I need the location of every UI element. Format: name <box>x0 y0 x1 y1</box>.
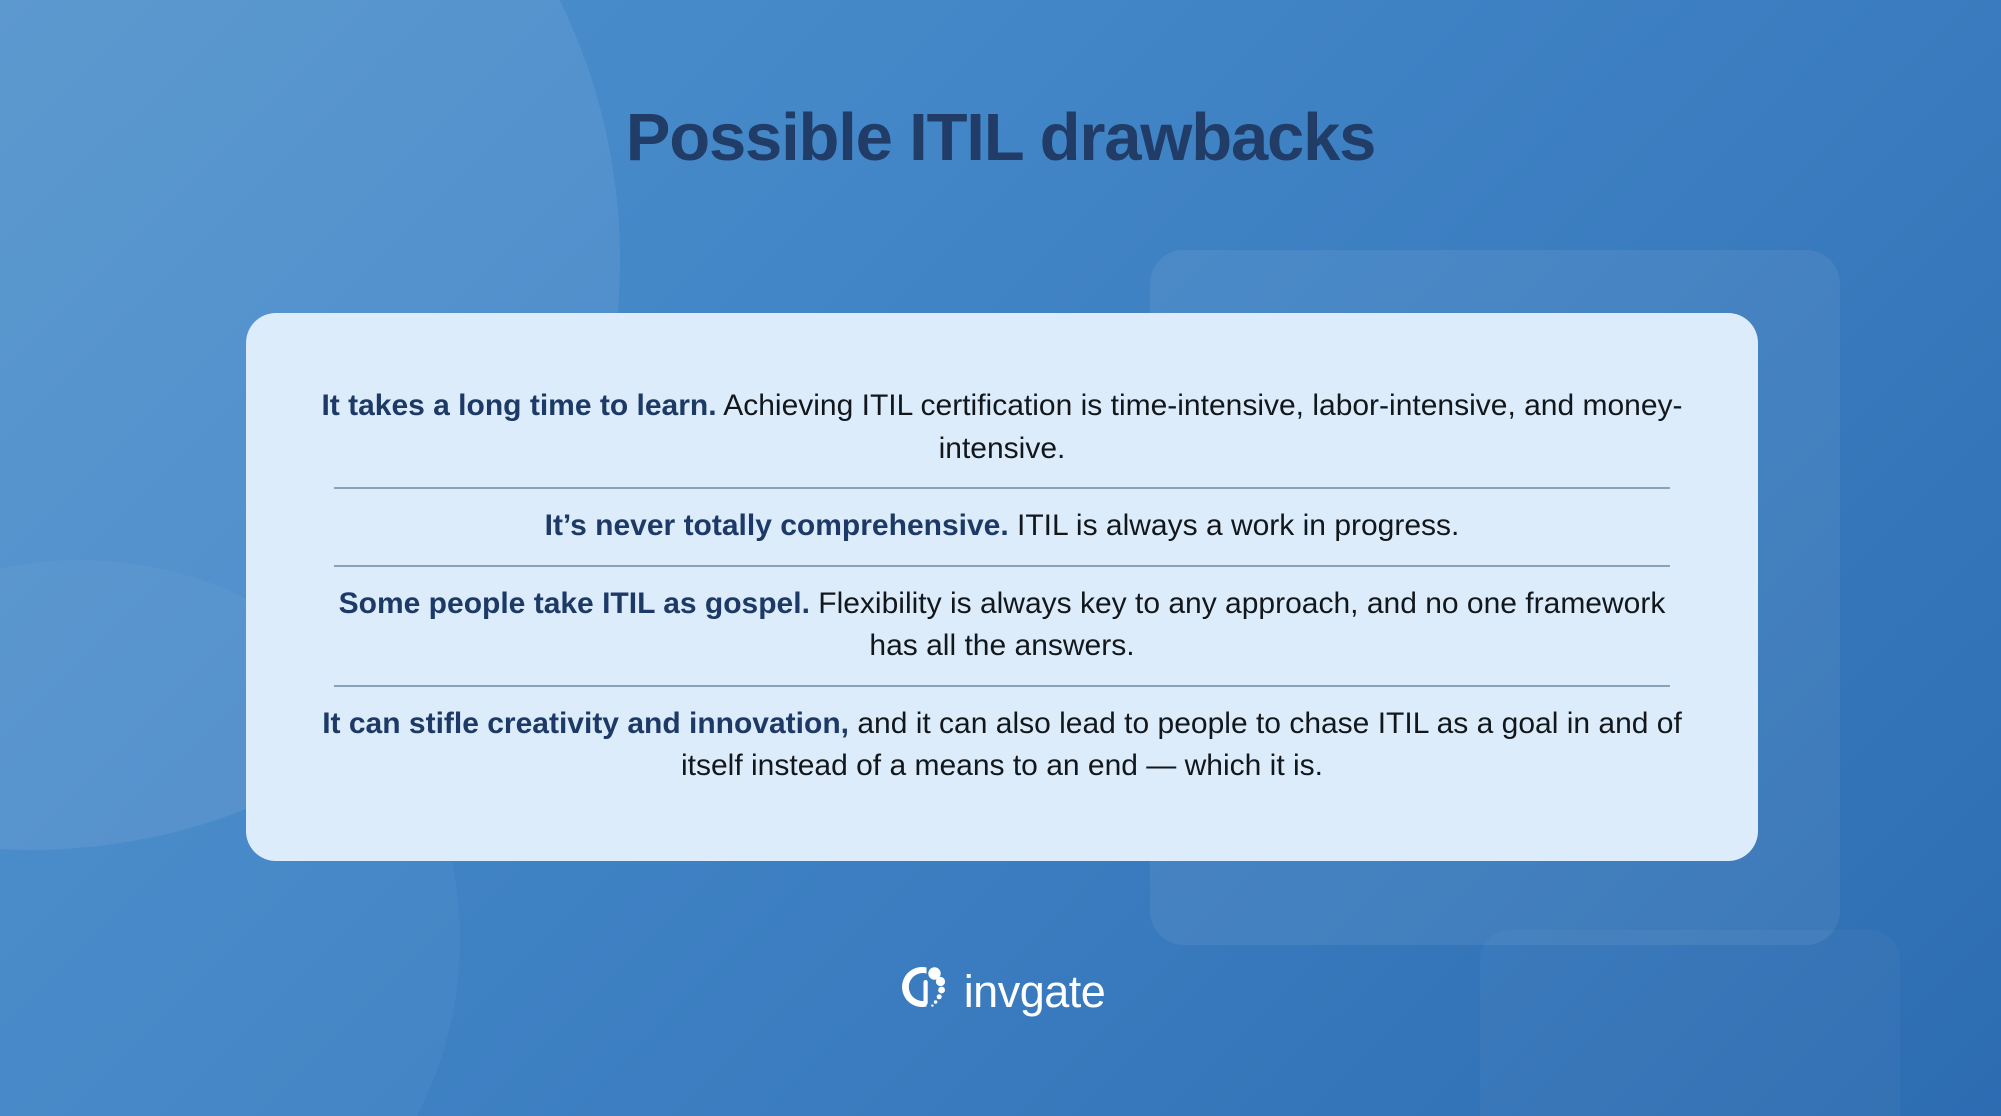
item-lead-text: It’s never totally comprehensive. <box>545 509 1009 542</box>
drawbacks-card: It takes a long time to learn. Achieving… <box>246 313 1758 861</box>
item-body-text: Flexibility is always key to any approac… <box>810 587 1665 663</box>
list-item: It takes a long time to learn. Achieving… <box>318 369 1686 487</box>
item-lead-text: It can stifle creativity and innovation, <box>322 707 849 740</box>
item-body-text: Achieving ITIL certification is time-int… <box>717 389 1683 465</box>
invgate-wordmark: invgate <box>964 969 1106 1014</box>
background-rounded-rect-bottom-right <box>1480 930 1900 1116</box>
page-title: Possible ITIL drawbacks <box>0 104 2001 171</box>
footer-logo: invgate <box>0 960 2001 1019</box>
item-lead-text: It takes a long time to learn. <box>321 389 716 422</box>
list-item: It can stifle creativity and innovation,… <box>318 687 1686 805</box>
item-body-text: ITIL is always a work in progress. <box>1009 509 1460 542</box>
invgate-footprint-logo-icon <box>896 960 950 1019</box>
list-item: Some people take ITIL as gospel. Flexibi… <box>318 567 1686 685</box>
item-lead-text: Some people take ITIL as gospel. <box>339 587 810 620</box>
list-item: It’s never totally comprehensive. ITIL i… <box>318 489 1686 565</box>
